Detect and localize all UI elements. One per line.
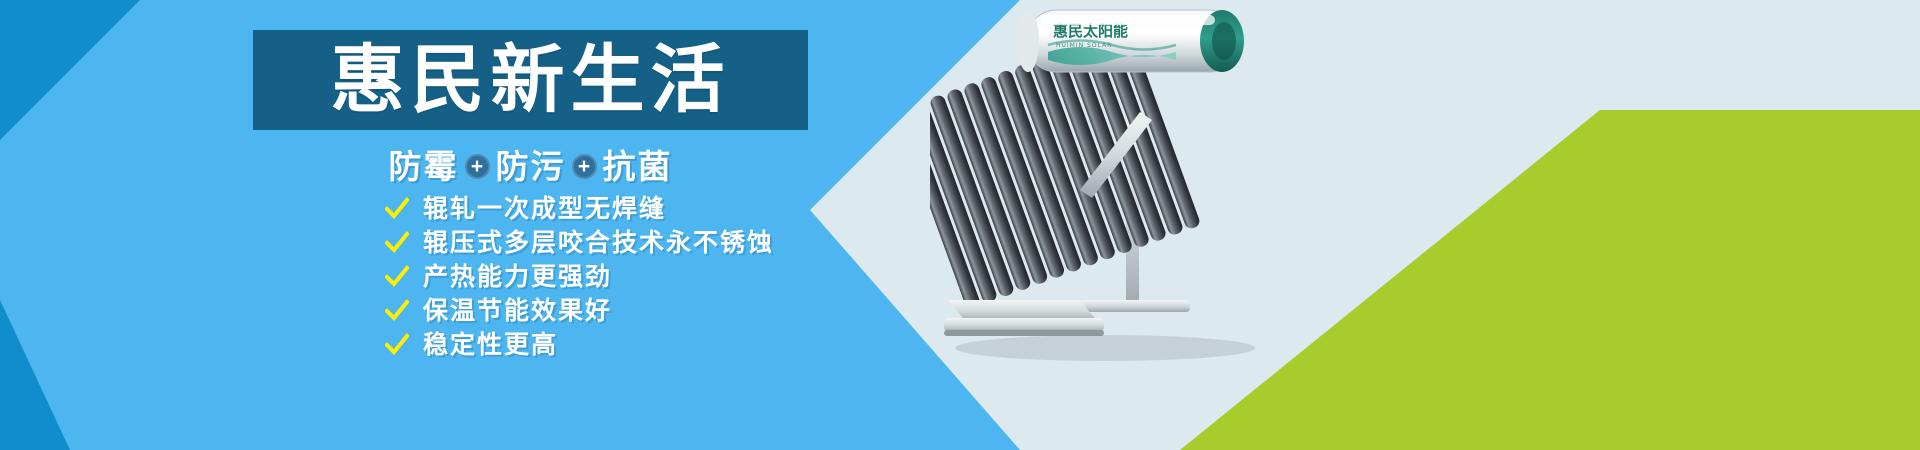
feature-item: 辊轧一次成型无焊缝 xyxy=(385,196,774,221)
feature-item: 保温节能效果好 xyxy=(385,298,774,323)
feature-item: 稳定性更高 xyxy=(385,332,774,357)
subtitle-word-3: 抗菌 xyxy=(603,140,673,188)
feature-list: 辊轧一次成型无焊缝 辊压式多层咬合技术永不锈蚀 产热能力更强劲 保温节能效果好 … xyxy=(385,196,774,357)
page-title: 惠民新生活 xyxy=(331,43,731,117)
feature-label: 保温节能效果好 xyxy=(423,298,612,323)
check-icon xyxy=(385,265,409,289)
feature-label: 辊压式多层咬合技术永不锈蚀 xyxy=(423,230,774,255)
plus-icon-1: + xyxy=(465,154,490,179)
feature-item: 辊压式多层咬合技术永不锈蚀 xyxy=(385,230,774,255)
banner-content: 惠民新生活 防霉 + 防污 + 抗菌 辊轧一次成型无焊缝 辊压式多层咬合技术永不… xyxy=(0,0,1000,450)
subtitle-row: 防霉 + 防污 + 抗菌 xyxy=(253,140,808,188)
check-icon xyxy=(385,333,409,357)
plus-icon-2: + xyxy=(572,154,597,179)
subtitle-word-1: 防霉 xyxy=(389,140,459,188)
feature-label: 辊轧一次成型无焊缝 xyxy=(423,196,666,221)
check-icon xyxy=(385,197,409,221)
tank-sub-text: HUIMIN SOLAR xyxy=(1056,42,1112,49)
product-shadow xyxy=(955,335,1255,361)
storage-tank: 惠民太阳能 HUIMIN SOLAR xyxy=(1017,10,1244,72)
feature-label: 产热能力更强劲 xyxy=(423,264,612,289)
feature-item: 产热能力更强劲 xyxy=(385,264,774,289)
title-banner-box: 惠民新生活 xyxy=(253,30,808,130)
promo-banner: 惠民新生活 防霉 + 防污 + 抗菌 辊轧一次成型无焊缝 辊压式多层咬合技术永不… xyxy=(0,0,1920,450)
check-icon xyxy=(385,231,409,255)
feature-label: 稳定性更高 xyxy=(423,332,558,357)
subtitle-word-2: 防污 xyxy=(496,140,566,188)
check-icon xyxy=(385,299,409,323)
